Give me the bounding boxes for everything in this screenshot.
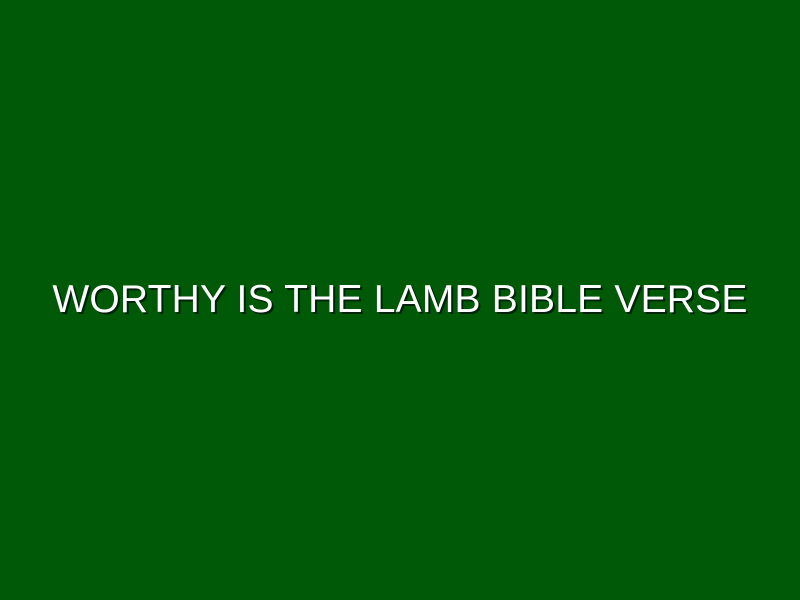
page-title: WORTHY IS THE LAMB BIBLE VERSE [52,278,747,323]
headline-band: WORTHY IS THE LAMB BIBLE VERSE [0,278,800,323]
featured-image-canvas: WORTHY IS THE LAMB BIBLE VERSE [0,0,800,600]
